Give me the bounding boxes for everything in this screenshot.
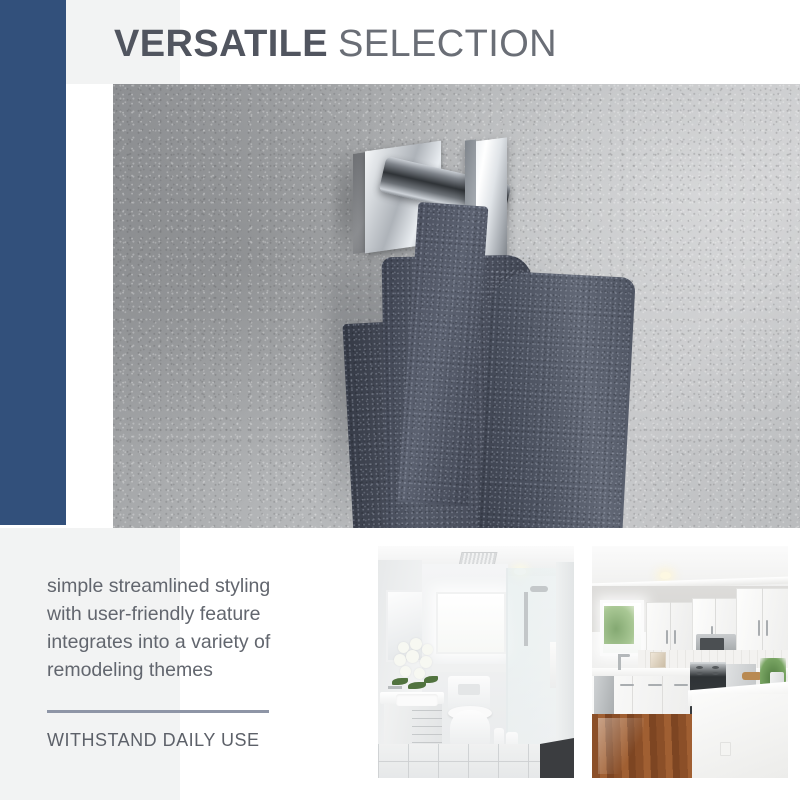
towel-fold-right [477,270,635,528]
upper-cabinet [646,602,696,654]
page-title: VERSATILESELECTION [114,23,557,67]
shower-head-icon [530,586,548,592]
thumbnail-bathroom [378,546,574,778]
cabinet-handle-icon [666,630,668,644]
cabinet-handle-icon [674,684,688,686]
feature-line-1: simple streamlined styling [47,572,327,600]
hero-product-image [113,84,800,528]
feature-copy: simple streamlined styling with user-fri… [47,572,327,684]
cabinet-handle-icon [758,620,760,636]
cabinet-handle-icon [766,620,768,636]
cabinet-handle-icon [620,684,634,686]
cabinet-handle-icon [674,630,676,644]
thumbnail-kitchen [592,546,788,778]
product-marketing-card: VERSATILESELECTION simple streamlined st… [0,0,800,800]
title-word-light: SELECTION [338,23,557,65]
feature-line-4: remodeling themes [47,656,327,684]
cabinet-handle-icon [648,684,662,686]
feature-line-3: integrates into a variety of [47,628,327,656]
sink-basin [396,694,438,706]
downlight-icon [660,572,671,579]
kitchen-peninsula [692,694,788,778]
decor-frame [650,652,666,668]
hanging-towel [288,204,628,528]
feature-line-2: with user-friendly feature [47,600,327,628]
window-foliage [604,606,634,644]
accent-bar-left [0,0,66,525]
bathroom-window [436,592,506,654]
shower-base [540,738,574,778]
outlet-icon [720,742,731,756]
title-word-strong: VERSATILE [114,23,328,65]
divider-rule [47,710,269,713]
cutting-board-icon [742,672,762,680]
tagline: WITHSTAND DAILY USE [47,730,260,751]
flower-vase [392,638,440,694]
